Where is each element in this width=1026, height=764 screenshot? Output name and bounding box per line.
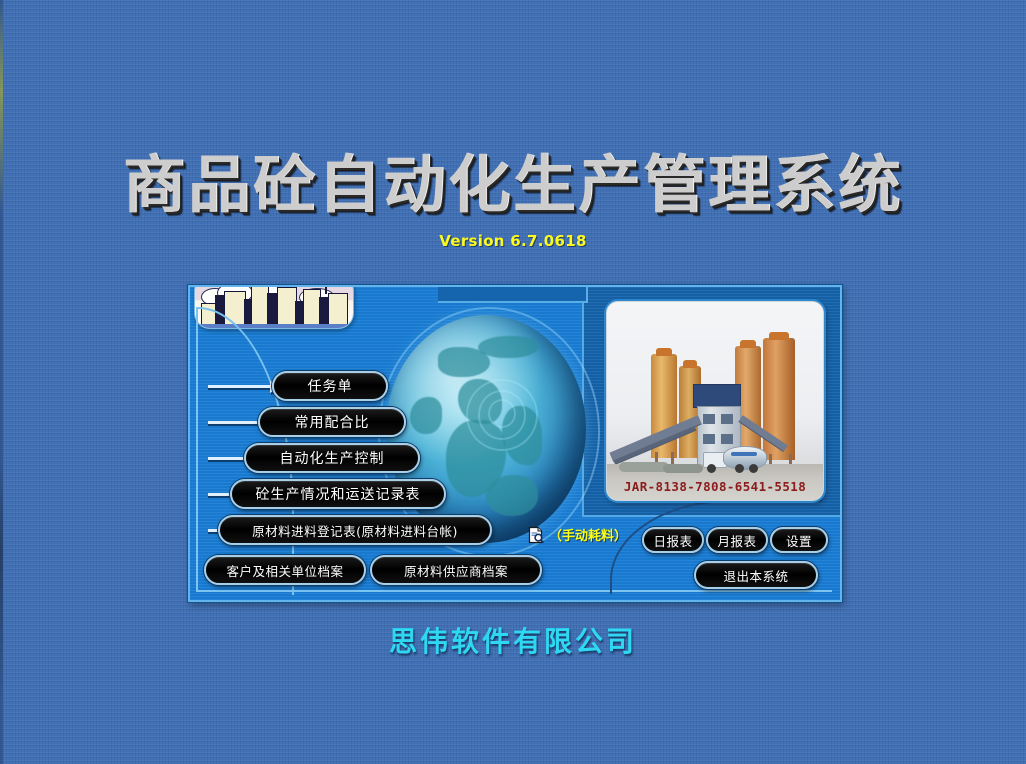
rubble [619,462,669,472]
customer-and-units-archive-button[interactable]: 客户及相关单位档案 [204,555,366,585]
plant-window [721,414,733,424]
title-block: 商品砼自动化生产管理系统 Version 6.7.0618 [0,150,1026,250]
monthly-report-button[interactable]: 月报表 [706,527,768,553]
plant-window [721,434,733,444]
document-search-icon[interactable] [528,526,544,544]
manual-material-label: （手动耗料） [549,525,627,544]
company-name: 思伟软件有限公司 [0,620,1026,660]
rubble [663,464,703,473]
task-order-button[interactable]: 任务单 [272,371,388,401]
version-label: Version 6.7.0618 [0,232,1026,250]
automatic-production-control-button[interactable]: 自动化生产控制 [244,443,420,473]
daily-report-button[interactable]: 日报表 [642,527,704,553]
panel-top-notch [438,287,588,303]
raw-material-supplier-archive-button[interactable]: 原材料供应商档案 [370,555,542,585]
page-title: 商品砼自动化生产管理系统 [0,150,1026,220]
mixer-truck-wheel [749,464,758,473]
mixer-truck-wheel [735,464,744,473]
main-console-panel: 任务单 常用配合比 自动化生产控制 砼生产情况和运送记录表 原材料进料登记表(原… [188,285,842,602]
plant-head [693,384,741,408]
mixer-truck-drum [723,446,767,470]
production-and-delivery-record-button[interactable]: 砼生产情况和运送记录表 [230,479,446,509]
city-skyline-logo [194,285,354,329]
raw-material-intake-register-button[interactable]: 原材料进料登记表(原材料进料台帐) [218,515,492,545]
concrete-batching-plant-photo: JAR-8138-7808-6541-5518 [606,301,824,501]
mixer-truck-wheel [707,464,716,473]
mixer-truck-stripe [731,452,757,456]
photo-caption: JAR-8138-7808-6541-5518 [607,479,823,494]
common-mix-ratio-button[interactable]: 常用配合比 [258,407,406,437]
exit-system-button[interactable]: 退出本系统 [694,561,818,589]
settings-button[interactable]: 设置 [770,527,828,553]
plant-window [703,414,715,424]
pointer-arrow-1 [208,381,280,393]
plant-window [703,434,715,444]
manual-material-marker[interactable]: （手动耗料） [528,525,627,544]
